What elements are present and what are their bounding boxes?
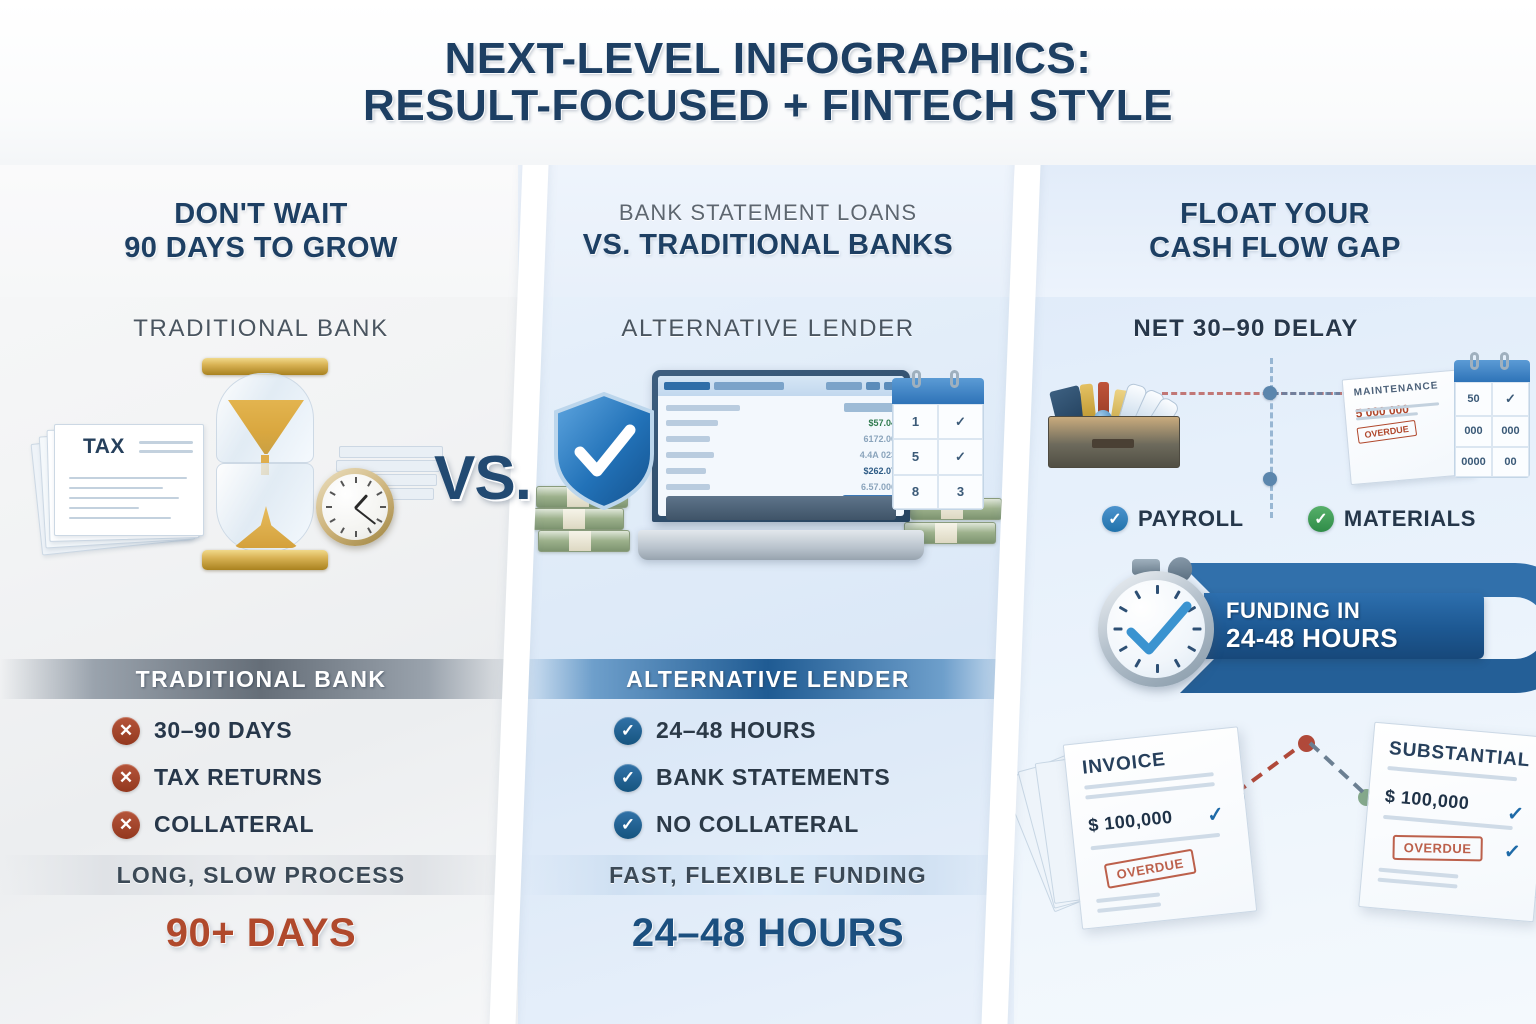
tax-label: TAX xyxy=(83,435,125,459)
overdue-stamp: OVERDUE xyxy=(1104,849,1197,889)
panel-mid-card: ALTERNATIVE LENDER ✓ 24–48 HOURS ✓ BANK … xyxy=(518,659,1018,1024)
bullet-label: 24–48 HOURS xyxy=(656,717,816,744)
invoice-card: SUBSTANTIAL $ 100,000 ✓ ✓ OVERDUE xyxy=(1358,722,1536,923)
list-item: ✕ TAX RETURNS xyxy=(0,754,522,801)
laptop-dashboard-icon: $57.04 6172.00 4.4A 023 $262.07 6.57.006 xyxy=(638,370,924,560)
bullet-label: COLLATERAL xyxy=(154,811,314,838)
band-footer-alternative: FAST, FLEXIBLE FUNDING xyxy=(518,855,1018,895)
check-icon: ✓ xyxy=(1506,801,1525,827)
panel-alternative-lender: BANK STATEMENT LOANS VS. TRADITIONAL BAN… xyxy=(518,165,1018,1024)
calendar-icon: 50 ✓ 000 000 0000 00 xyxy=(1454,360,1530,478)
hourglass-icon xyxy=(196,358,334,570)
cash-stack-icon xyxy=(532,508,624,530)
check-icon: ✓ xyxy=(614,811,642,839)
list-item: ✕ 30–90 DAYS xyxy=(0,707,522,754)
panel-left-sublabel: TRADITIONAL BANK xyxy=(0,315,522,343)
calendar-check-icon: 1 ✓ 5 ✓ 8 3 xyxy=(892,378,984,510)
cross-icon: ✕ xyxy=(112,717,140,745)
funding-banner-line-2: 24-48 HOURS xyxy=(1226,624,1484,653)
band-title-traditional: TRADITIONAL BANK xyxy=(0,659,522,699)
check-icon: ✓ xyxy=(938,439,983,474)
panel-mid-art: 1 ✓ 5 ✓ 8 3 xyxy=(518,350,1018,650)
timeline-node-icon xyxy=(1263,472,1277,486)
infographic-canvas: NEXT-LEVEL INFOGRAPHICS: RESULT-FOCUSED … xyxy=(0,0,1536,1024)
toolbox-icon xyxy=(1048,378,1180,468)
panel-left-bullets: ✕ 30–90 DAYS ✕ TAX RETURNS ✕ COLLATERAL xyxy=(0,707,522,848)
grand-total-alternative: 24–48 HOURS xyxy=(518,911,1018,956)
check-icon: ✓ xyxy=(614,764,642,792)
tax-document-stack: TAX xyxy=(36,424,204,548)
shield-check-icon xyxy=(552,392,656,510)
check-circle-green-icon: ✓ xyxy=(1308,506,1334,532)
list-item: ✓ NO COLLATERAL xyxy=(518,801,1018,848)
panel-left-card: TRADITIONAL BANK ✕ 30–90 DAYS ✕ TAX RETU… xyxy=(0,659,522,1024)
panel-left-headline-2: 90 DAYS TO GROW xyxy=(124,231,398,265)
funding-banner-line-1: FUNDING IN xyxy=(1226,599,1484,624)
check-icon: ✓ xyxy=(938,404,983,439)
timeline-node-icon xyxy=(1263,386,1277,400)
panel-right-headline-2: CASH FLOW GAP xyxy=(1149,231,1401,265)
band-footer-traditional: LONG, SLOW PROCESS xyxy=(0,855,522,895)
title-line-2: RESULT-FOCUSED + FINTECH STYLE xyxy=(363,83,1173,130)
page-title: NEXT-LEVEL INFOGRAPHICS: RESULT-FOCUSED … xyxy=(0,0,1536,165)
list-item: ✕ COLLATERAL xyxy=(0,801,522,848)
check-icon: ✓ xyxy=(1503,839,1522,865)
panel-right-headline: FLOAT YOUR CASH FLOW GAP xyxy=(1014,165,1536,297)
bullet-label: TAX RETURNS xyxy=(154,764,322,791)
panel-left-headline-1: DON'T WAIT xyxy=(124,197,398,231)
vs-badge: VS. xyxy=(434,443,531,514)
grand-total-traditional: 90+ DAYS xyxy=(0,911,522,956)
list-item: ✓ MATERIALS xyxy=(1308,506,1476,532)
timeline-dash-vertical xyxy=(1270,358,1273,518)
analog-clock-icon xyxy=(316,468,394,546)
overdue-stamp: OVERDUE xyxy=(1392,835,1482,862)
bullet-label: 30–90 DAYS xyxy=(154,717,292,744)
panel-row: DON'T WAIT 90 DAYS TO GROW TRADITIONAL B… xyxy=(0,165,1536,1024)
check-row-label: MATERIALS xyxy=(1344,506,1476,532)
funding-banner: FUNDING IN 24-48 HOURS xyxy=(1204,593,1484,659)
panel-traditional-bank: DON'T WAIT 90 DAYS TO GROW TRADITIONAL B… xyxy=(0,165,522,1024)
cash-stack-icon xyxy=(538,530,630,552)
list-item: ✓ BANK STATEMENTS xyxy=(518,754,1018,801)
check-row-label: PAYROLL xyxy=(1138,506,1244,532)
panel-mid-kicker: BANK STATEMENT LOANS xyxy=(619,200,917,226)
cross-icon: ✕ xyxy=(112,764,140,792)
check-icon: ✓ xyxy=(1206,801,1225,828)
invoice-title: INVOICE xyxy=(1064,727,1241,781)
panel-mid-bullets: ✓ 24–48 HOURS ✓ BANK STATEMENTS ✓ NO COL… xyxy=(518,707,1018,848)
panel-cash-flow-gap: FLOAT YOUR CASH FLOW GAP NET 30–90 DELAY xyxy=(1014,165,1536,1024)
stopwatch-icon xyxy=(1098,571,1214,687)
panel-right-headline-1: FLOAT YOUR xyxy=(1149,197,1401,231)
panel-mid-headline: BANK STATEMENT LOANS VS. TRADITIONAL BAN… xyxy=(518,165,1018,297)
title-line-1: NEXT-LEVEL INFOGRAPHICS: xyxy=(445,36,1092,83)
panel-right-invoices: INVOICE $ 100,000 ✓ OVERDUE SUBSTANTIAL … xyxy=(1014,725,1536,1024)
cross-icon: ✕ xyxy=(112,811,140,839)
check-icon: ✓ xyxy=(1492,382,1529,416)
list-item: ✓ 24–48 HOURS xyxy=(518,707,1018,754)
list-item: ✓ PAYROLL xyxy=(1102,506,1244,532)
band-title-alternative: ALTERNATIVE LENDER xyxy=(518,659,1018,699)
panel-mid-headline-1: VS. TRADITIONAL BANKS xyxy=(583,228,953,262)
panel-left-headline: DON'T WAIT 90 DAYS TO GROW xyxy=(0,165,522,297)
panel-right-check-row: ✓ PAYROLL ✓ MATERIALS xyxy=(1014,499,1536,539)
check-icon: ✓ xyxy=(614,717,642,745)
bullet-label: BANK STATEMENTS xyxy=(656,764,890,791)
bullet-label: NO COLLATERAL xyxy=(656,811,859,838)
panel-mid-sublabel: ALTERNATIVE LENDER xyxy=(518,315,1018,343)
panel-right-sublabel: NET 30–90 DELAY xyxy=(1014,315,1536,343)
check-circle-blue-icon: ✓ xyxy=(1102,506,1128,532)
invoice-card: INVOICE $ 100,000 ✓ OVERDUE xyxy=(1063,726,1257,929)
